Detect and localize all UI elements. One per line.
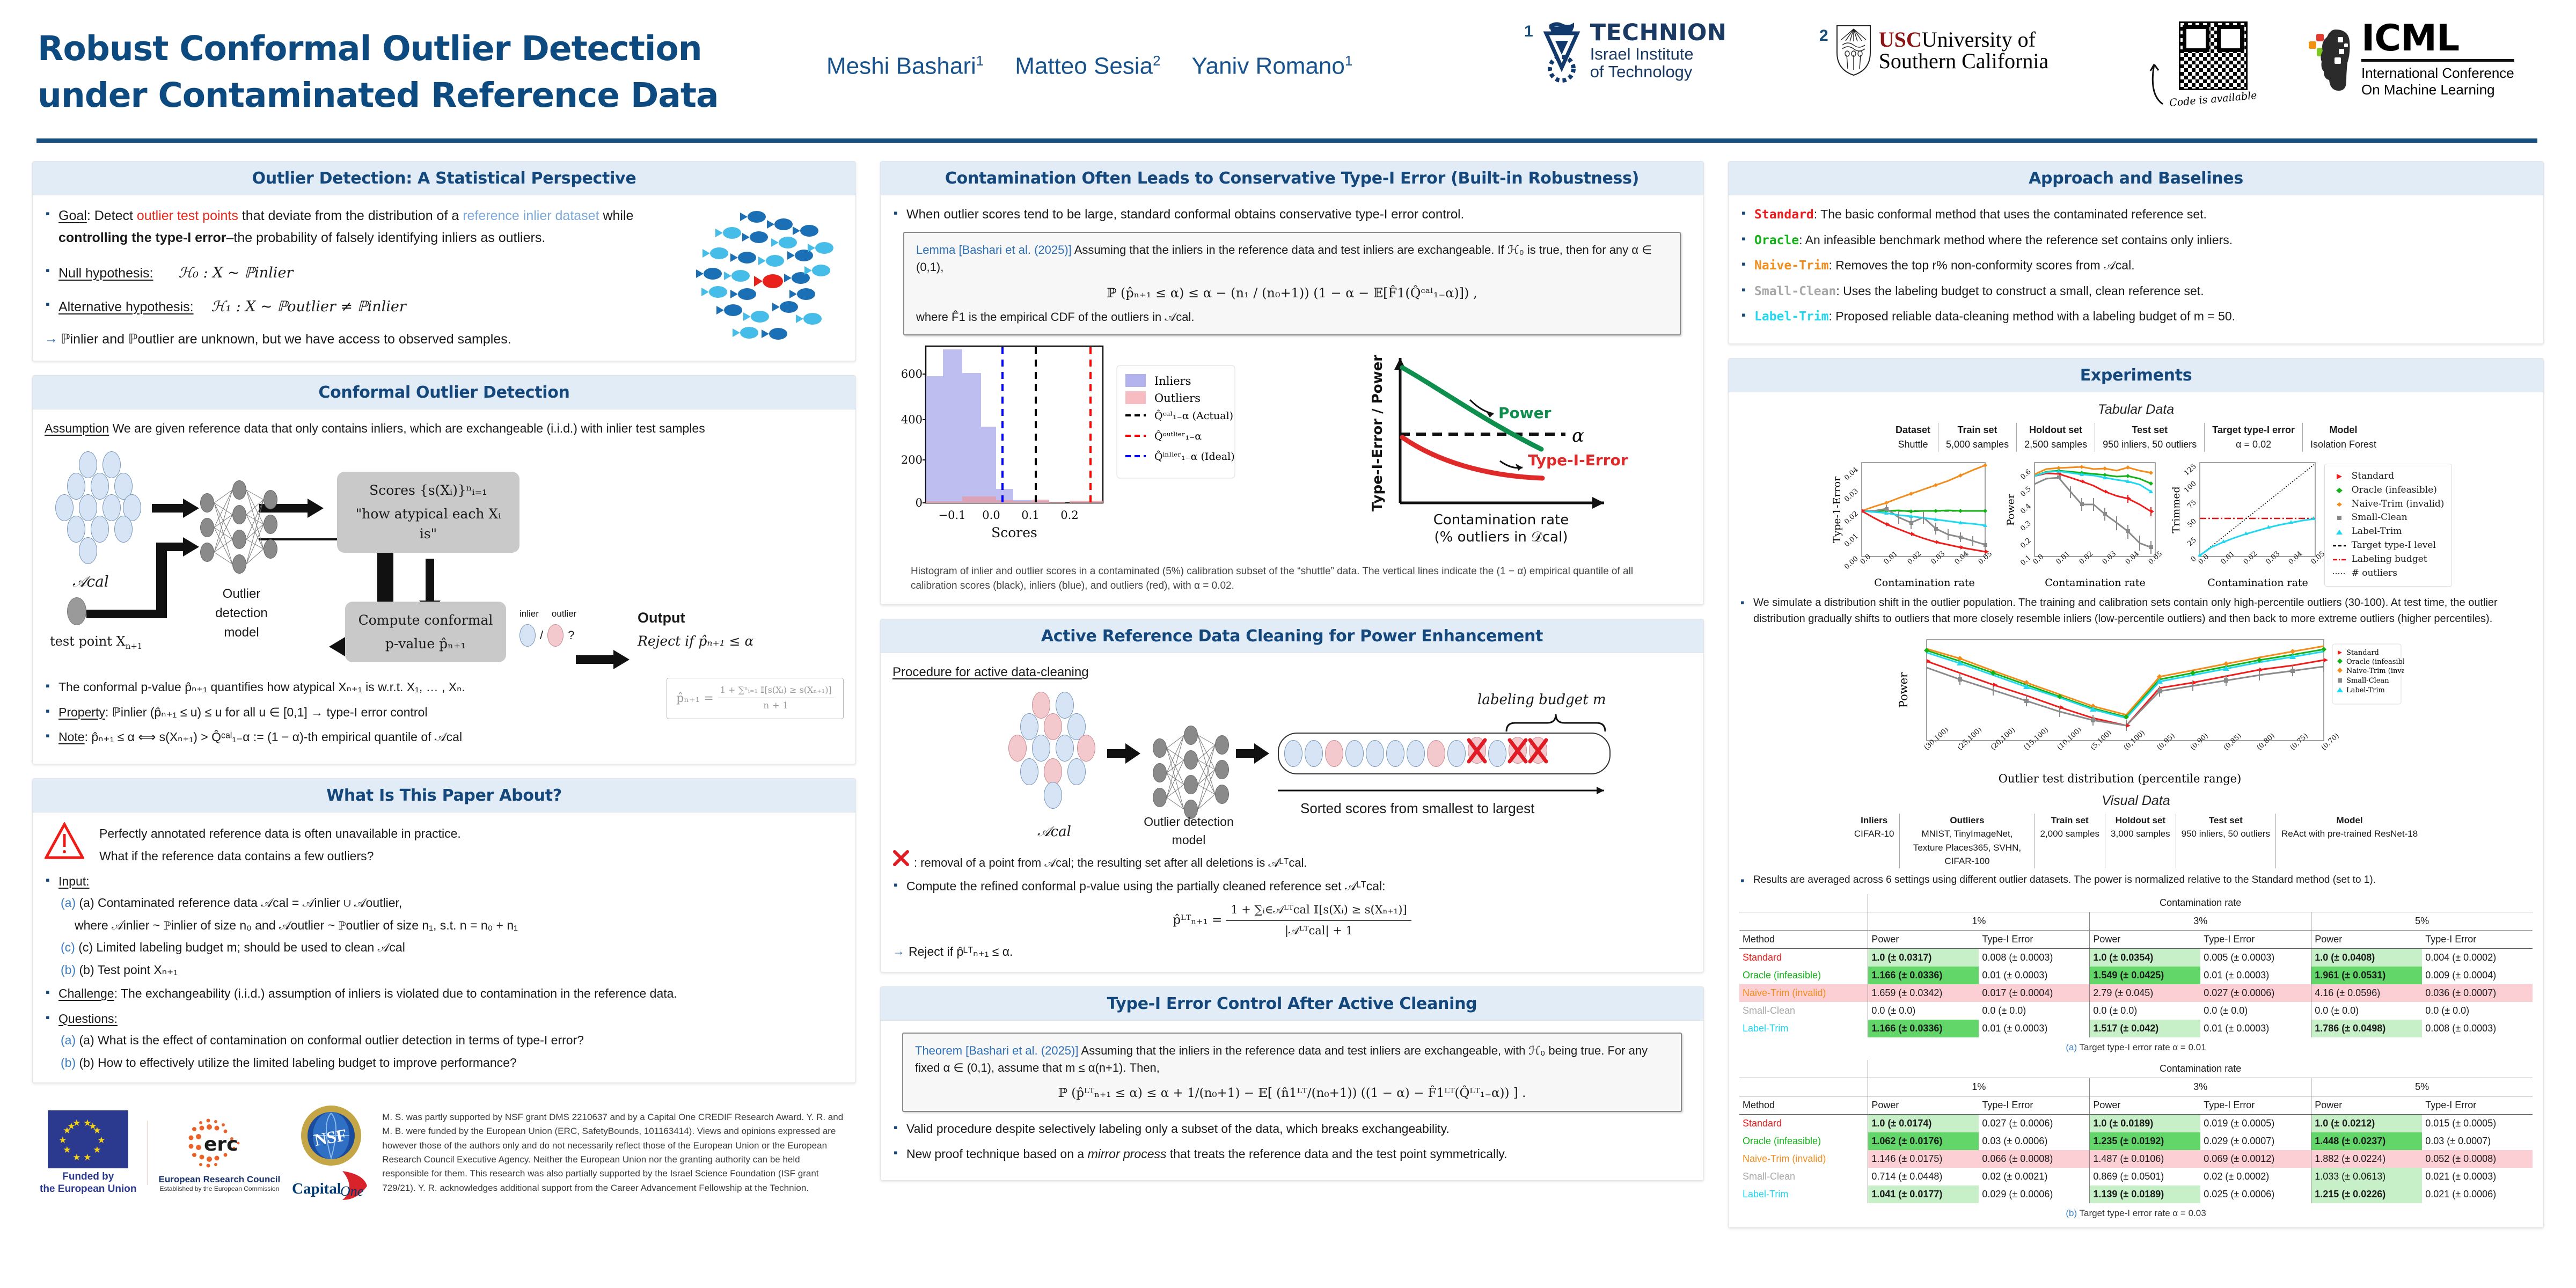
table-b-row-4-c0: 1.041 (± 0.0177) <box>1868 1185 1979 1203</box>
table-row: Oracle (infeasible) 1.166 (± 0.0336) 0.0… <box>1739 967 2533 984</box>
nsf-capitalone-logos: NSF Capital One <box>291 1103 371 1202</box>
baseline-oracle-name: Oracle <box>1754 233 1799 247</box>
table-b-rate-3: 5% <box>2311 1078 2533 1096</box>
table-a-row-0-method: Standard <box>1739 949 1868 967</box>
panel-conformal-title: Conformal Outlier Detection <box>318 383 569 402</box>
legend-question-mark: ? <box>568 626 574 644</box>
usc-shield-icon <box>1835 24 1872 77</box>
assumption-line: Assumption We are given reference data t… <box>45 419 844 438</box>
legend-label-oracle: Oracle (infeasible) <box>2352 484 2437 497</box>
table-a-row-1-c0: 1.166 (± 0.0336) <box>1868 967 1979 984</box>
icml-wordmark: ICML International Conference On Machine… <box>2361 20 2514 98</box>
baseline-standard-name: Standard <box>1754 208 1814 222</box>
legend-label-standard: Standard <box>2352 470 2395 484</box>
cleaning-model-caption: Outlier detection model <box>1140 813 1237 850</box>
baseline-naive-desc: : Removes the top r% non-conformity scor… <box>1828 258 2134 272</box>
page-title-line2: under Contaminated Reference Data <box>38 72 789 119</box>
svg-text:0.04: 0.04 <box>2287 550 2304 566</box>
legend-label-small-clean: Small-Clean <box>2352 511 2407 525</box>
property-label: Property <box>58 705 105 719</box>
table-b-row-4-c4: 1.215 (± 0.0226) <box>2311 1185 2422 1203</box>
pvalue-formula-denominator: n + 1 <box>718 698 834 713</box>
bullet-conservative: When outlier scores tend to be large, st… <box>892 205 1692 224</box>
icml-subtitle-1: International Conference <box>2361 65 2514 82</box>
removed-point-1 <box>1468 737 1486 770</box>
mirror-text-b: that treats the reference data and the t… <box>1167 1147 1507 1161</box>
table-a-row-0-c3: 0.005 (± 0.0003) <box>2200 949 2311 967</box>
svg-text:200: 200 <box>901 453 923 466</box>
table-b-caption: (b) Target type-I error rate α = 0.03 <box>1739 1206 2533 1220</box>
table-a-row-2-c2: 2.79 (± 0.045) <box>2090 984 2200 1002</box>
usc-line-2: Southern California <box>1879 50 2049 72</box>
spec-3-v: 950 inliers, 50 outliers <box>2103 437 2197 452</box>
bullet-null-hypothesis: Null hypothesis: ℋ₀ : X ~ ℙinlier <box>45 262 688 284</box>
technion-subtitle-2: of Technology <box>1590 63 1727 81</box>
bullet-goal: Goal: Detect outlier test points that de… <box>45 205 688 248</box>
author-1: Meshi Bashari1 <box>826 53 984 80</box>
table-a-row-4-c2: 1.517 (± 0.042) <box>2090 1020 2200 1037</box>
icml-subtitle-2: On Machine Learning <box>2361 82 2514 98</box>
table-b-row-1-c0: 1.062 (± 0.0176) <box>1868 1132 1979 1150</box>
bullet-questions: Questions: <box>45 1009 844 1028</box>
table-b-row-1-c5: 0.03 (± 0.0007) <box>2422 1132 2533 1150</box>
svg-text:125: 125 <box>2183 463 2198 478</box>
svg-text:Oracle (infeasible): Oracle (infeasible) <box>2346 658 2404 666</box>
panel-typei-control: Type-I Error Control After Active Cleani… <box>880 986 1704 1181</box>
question-a-text: (a) What is the effect of contamination … <box>79 1033 584 1047</box>
spec-5-v: Isolation Forest <box>2310 437 2376 452</box>
table-b-row-1-method: Oracle (infeasible) <box>1739 1132 1868 1150</box>
conceptual-power-label: Power <box>1498 404 1552 422</box>
challenge-label: Challenge <box>58 986 114 1000</box>
input-item-a2: where 𝒜inlier ~ ℙinlier of size n₀ and 𝒜… <box>61 916 844 935</box>
svg-text:0.02: 0.02 <box>2242 550 2259 566</box>
legend-marker-target-level <box>2332 543 2346 549</box>
compute-pvalue-box: Compute conformal p-value p̂ₙ₊₁ <box>345 602 506 662</box>
scores-box-line2: "how atypical each Xᵢ is" <box>348 504 509 544</box>
theorem-box: Theorem [Bashari et al. (2025)] Assuming… <box>902 1033 1682 1112</box>
header-divider <box>36 138 2537 143</box>
eu-flag-icon: ★★ ★★ ★★ ★★ ★★ ★★ <box>48 1110 128 1168</box>
cleaning-model-network <box>1153 716 1233 813</box>
baseline-item-small-clean: Small-Clean: Uses the labeling budget to… <box>1740 282 2531 301</box>
warning-line-1: Perfectly annotated reference data is of… <box>99 824 461 843</box>
pvalue-formula-numerator: 1 + ∑ⁿᵢ₌₁ 𝕀[s(Xᵢ) ≥ s(Xₙ₊₁)] <box>718 684 834 698</box>
conceptual-xlabel-2: (% outliers in 𝒟cal) <box>1434 529 1568 545</box>
svg-text:0.04: 0.04 <box>1953 550 1970 566</box>
svg-text:(0,85): (0,85) <box>2222 732 2243 752</box>
pvalue-formula-box: p̂ₙ₊₁ = 1 + ∑ⁿᵢ₌₁ 𝕀[s(Xᵢ) ≥ s(Xₙ₊₁)] n +… <box>667 678 844 719</box>
legend-marker-num-outliers <box>2332 570 2346 577</box>
table-b-row-4-c3: 0.025 (± 0.0006) <box>2200 1185 2311 1203</box>
goal-highlight-outlier: outlier test points <box>137 208 238 223</box>
table-b-row-3-c2: 0.869 (± 0.0501) <box>2090 1168 2200 1185</box>
baseline-label-name: Label-Trim <box>1754 310 1828 324</box>
cleaning-model-line2: model <box>1140 831 1237 850</box>
hist-xlabel: Scores <box>991 525 1037 540</box>
goal-highlight-reference: reference inlier dataset <box>463 208 599 223</box>
svg-text:0.00: 0.00 <box>1843 555 1860 572</box>
svg-text:Standard: Standard <box>2346 649 2379 657</box>
spec-1-h: Train set <box>1946 423 2009 437</box>
table-b-row-2-method: Naive-Trim (invalid) <box>1739 1150 1868 1168</box>
table-row: Standard 1.0 (± 0.0317) 0.008 (± 0.0003)… <box>1739 949 2533 967</box>
table-b-method-header: Method <box>1739 1096 1868 1114</box>
table-a-row-3-c4: 0.0 (± 0.0) <box>2311 1002 2422 1020</box>
title-block: Robust Conformal Outlier Detection under… <box>38 26 789 119</box>
visual-spec-table: InliersCIFAR-10 OutliersMNIST, TinyImage… <box>1739 814 2533 868</box>
erc-caption-2: Established by the European Commission <box>159 1185 281 1192</box>
table-b-row-2-c5: 0.052 (± 0.0008) <box>2422 1150 2533 1168</box>
usc-affiliation-number: 2 <box>1819 27 1828 45</box>
baseline-small-desc: : Uses the labeling budget to construct … <box>1836 284 2204 298</box>
table-b-caption-tag: (b) <box>2066 1208 2077 1218</box>
icml-name: ICML <box>2361 20 2514 57</box>
panel-active-cleaning: Active Reference Data Cleaning for Power… <box>880 619 1704 972</box>
table-b-row-3-c3: 0.02 (± 0.0002) <box>2200 1168 2311 1185</box>
panel-contamination-header: Contamination Often Leads to Conservativ… <box>881 162 1703 195</box>
erc-logo: erc European Research Council Establishe… <box>159 1113 281 1192</box>
svg-text:0.02: 0.02 <box>1906 550 1923 566</box>
svg-text:50: 50 <box>2186 517 2198 529</box>
table-a-row-1-method: Oracle (infeasible) <box>1739 967 1868 984</box>
visual-data-label: Visual Data <box>1739 791 2533 811</box>
vspec-2-h: Train set <box>2040 814 2099 828</box>
baseline-item-naive-trim: Naive-Trim: Removes the top r% non-confo… <box>1740 256 2531 275</box>
alt-hypothesis-equation: ℋ₁ : X ~ ℙoutlier ≠ ℙinlier <box>211 298 406 315</box>
score-histogram-chart: 0200400600 −0.10.00.10.2 Scores Inliers <box>892 342 1351 562</box>
legend-marker-oracle <box>2332 487 2346 494</box>
refined-eq-numerator: 1 + ∑ᵢ∈𝒜ᴸᵀcal 𝕀[s(Xᵢ) ≥ s(Xₙ₊₁)] <box>1226 902 1411 921</box>
svg-text:400: 400 <box>901 413 923 426</box>
spec-4-v: α = 0.02 <box>2212 437 2295 452</box>
inlier-outlier-legend: inlier outlier / ? <box>519 607 576 647</box>
input-item-b: (b) (b) Test point Xₙ₊₁ <box>61 961 844 979</box>
svg-text:0.6: 0.6 <box>2019 468 2032 481</box>
table-row: Small-Clean 0.714 (± 0.0448) 0.02 (± 0.0… <box>1739 1168 2533 1185</box>
svg-text:0.05: 0.05 <box>2147 550 2163 566</box>
input-item-c-text: (c) Limited labeling budget m; should be… <box>78 940 405 954</box>
panel-outlier-detection-header: Outlier Detection: A Statistical Perspec… <box>33 162 855 195</box>
spec-0-h: Dataset <box>1896 423 1930 437</box>
bullet-valid-procedure: Valid procedure despite selectively labe… <box>892 1119 1692 1138</box>
bullet-property: Property: ℙinlier (p̂ₙ₊₁ ≤ u) ≤ u for al… <box>45 703 657 722</box>
svg-text:0.04: 0.04 <box>1843 466 1860 482</box>
table-a-caption: (a) Target type-I error rate α = 0.01 <box>1739 1041 2533 1055</box>
conceptual-typei-label: Type-I-Error <box>1528 451 1628 469</box>
sorted-scores-axis <box>1278 784 1616 798</box>
bullet-input: Input: <box>45 872 844 891</box>
vspec-4-h: Test set <box>2182 814 2270 828</box>
scores-box: Scores {s(Xᵢ)}ⁿᵢ₌₁ "how atypical each Xᵢ… <box>337 472 519 553</box>
spec-3-h: Test set <box>2103 423 2197 437</box>
erc-dots-icon: erc <box>185 1113 254 1173</box>
bullet-note: Note: p̂ₙ₊₁ ≤ α ⟺ s(Xₙ₊₁) > Q̂ᶜᵃˡ₁₋α := … <box>45 728 657 747</box>
author-2-affiliation: 2 <box>1153 53 1160 69</box>
legend-marker-label-trim <box>2332 529 2346 535</box>
usc-logo: 2 USCUniversity of Souther <box>1819 24 2048 77</box>
panel-outlier-detection-title: Outlier Detection: A Statistical Perspec… <box>252 169 636 188</box>
eu-caption-1: Funded by <box>40 1171 137 1183</box>
t1-xlabel: Contamination rate <box>1874 577 1975 589</box>
table-a-row-4-c1: 0.01 (± 0.0003) <box>1979 1020 2089 1037</box>
svg-text:0.03: 0.03 <box>1843 487 1860 504</box>
table-a-row-2-method: Naive-Trim (invalid) <box>1739 984 1868 1002</box>
capitalone-text-2: One <box>340 1183 363 1199</box>
table-a-super-header: Contamination rate <box>1868 894 2533 912</box>
conceptual-alpha-label: α <box>1572 425 1584 447</box>
table-a-row-2-c3: 0.027 (± 0.0006) <box>2200 984 2311 1002</box>
svg-text:0.03: 0.03 <box>2264 550 2281 566</box>
vspec-5-v: ReAct with pre-trained ResNet-18 <box>2281 827 2418 841</box>
svg-text:(0,80): (0,80) <box>2256 732 2277 752</box>
table-b-row-0-c3: 0.019 (± 0.0005) <box>2200 1114 2311 1132</box>
panel-conformal-header: Conformal Outlier Detection <box>33 376 855 409</box>
bullet-refined-pvalue: Compute the refined conformal p-value us… <box>892 877 1692 896</box>
technion-wordmark: TECHNION Israel Institute of Technology <box>1590 21 1727 80</box>
legend-label-budget: Labeling budget <box>2352 553 2427 567</box>
panel-cleaning-header: Active Reference Data Cleaning for Power… <box>881 619 1703 653</box>
bullet-distribution-shift: We simulate a distribution shift in the … <box>1739 595 2533 627</box>
table-a-row-3-c1: 0.0 (± 0.0) <box>1979 1002 2089 1020</box>
table-a-row-4-method: Label-Trim <box>1739 1020 1868 1037</box>
baseline-item-standard: Standard: The basic conformal method tha… <box>1740 205 2531 224</box>
baseline-label-desc: : Proposed reliable data-cleaning method… <box>1828 309 2235 323</box>
spec-2-v: 2,500 samples <box>2024 437 2087 452</box>
table-a-row-4-c5: 0.008 (± 0.0003) <box>2422 1020 2533 1037</box>
svg-text:0.0: 0.0 <box>2031 553 2045 566</box>
right-column: Approach and Baselines Standard: The bas… <box>1728 161 2544 1242</box>
baseline-item-label-trim: Label-Trim: Proposed reliable data-clean… <box>1740 307 2531 326</box>
challenge-text: : The exchangeability (i.i.d.) assumptio… <box>114 986 677 1000</box>
table-a-row-0-c1: 0.008 (± 0.0003) <box>1979 949 2089 967</box>
red-x-icon <box>892 850 910 867</box>
alt-hypothesis-label: Alternative hypothesis: <box>58 299 194 314</box>
theorem-equation: ℙ (p̂ᴸᵀₙ₊₁ ≤ α) ≤ α + 1/(n₀+1) − 𝔼[ (n̂1… <box>915 1084 1669 1103</box>
sorted-scores-strip <box>1278 733 1611 774</box>
baseline-naive-name: Naive-Trim <box>1754 259 1828 273</box>
svg-text:Label-Trim: Label-Trim <box>2346 686 2385 694</box>
icml-logo: ICML International Conference On Machine… <box>2308 20 2514 98</box>
table-b-row-2-c0: 1.146 (± 0.0175) <box>1868 1150 1979 1168</box>
table-a-row-3-c5: 0.0 (± 0.0) <box>2422 1002 2533 1020</box>
eu-caption-2: the European Union <box>40 1183 137 1196</box>
table-b-row-1-c2: 1.235 (± 0.0192) <box>2090 1132 2200 1150</box>
cleaning-model-line1: Outlier detection <box>1140 813 1237 831</box>
removed-point-3 <box>1529 737 1547 770</box>
conceptual-xlabel-1: Contamination rate <box>1433 512 1569 528</box>
legend-outlier-label: outlier <box>552 607 576 621</box>
hist-legend-cal: Q̂ᶜᵃˡ₁₋α (Actual) <box>1154 409 1233 421</box>
baseline-standard-desc: : The basic conformal method that uses t… <box>1814 207 2207 221</box>
spec-2-h: Holdout set <box>2024 423 2087 437</box>
svg-text:(0,95): (0,95) <box>2156 732 2177 752</box>
svg-text:(10,100): (10,100) <box>2056 726 2083 752</box>
question-b: (b) (b) How to effectively utilize the l… <box>61 1053 844 1072</box>
author-3-name: Yaniv Romano <box>1192 53 1345 79</box>
svg-text:0.01: 0.01 <box>1843 532 1860 549</box>
question-a: (a) (a) What is the effect of contaminat… <box>61 1031 844 1050</box>
table-b-row-3-c5: 0.021 (± 0.0003) <box>2422 1168 2533 1185</box>
table-b-row-0-c1: 0.027 (± 0.0006) <box>1979 1114 2089 1132</box>
table-b-col-power-3: Power <box>2311 1096 2422 1114</box>
table-b-row-4-c5: 0.021 (± 0.0006) <box>2422 1185 2533 1203</box>
svg-text:0.1: 0.1 <box>1021 509 1039 522</box>
table-b-col-type1-1: Type-I Error <box>1979 1096 2089 1114</box>
legend-outlier-swatch <box>547 624 563 647</box>
conceptual-ylabel: Type-I-Error / Power <box>1370 355 1386 511</box>
author-2: Matteo Sesia2 <box>1015 53 1160 80</box>
baseline-small-name: Small-Clean <box>1754 284 1836 298</box>
lemma-box: Lemma [Bashari et al. (2025)] Assuming t… <box>903 232 1681 335</box>
panel-cleaning-title: Active Reference Data Cleaning for Power… <box>1041 627 1543 646</box>
hist-legend-outliers: Outliers <box>1154 392 1201 405</box>
vspec-5-h: Model <box>2281 814 2418 828</box>
visual-ylabel: Power <box>1897 672 1910 708</box>
cleaning-arrow-2 <box>1236 743 1274 764</box>
svg-text:0: 0 <box>916 496 923 509</box>
usc-wordmark: USCUniversity of Southern California <box>1879 29 2049 72</box>
scores-box-line1: Scores {s(Xᵢ)}ⁿᵢ₌₁ <box>348 480 509 501</box>
model-caption: Outlier detection model <box>196 584 287 642</box>
results-table-alpha-001: Contamination rate 1% 3% 5% Method Power… <box>1739 894 2533 1037</box>
table-a-row-0-c4: 1.0 (± 0.0408) <box>2311 949 2422 967</box>
t1-ylabel: Type-1-Error <box>1831 476 1843 543</box>
spec-1-v: 5,000 samples <box>1946 437 2009 452</box>
svg-text:−0.1: −0.1 <box>939 509 966 522</box>
table-a-row-2-c0: 1.659 (± 0.0342) <box>1868 984 1979 1002</box>
table-b-row-3-c4: 1.033 (± 0.0613) <box>2311 1168 2422 1185</box>
technion-affiliation-number: 1 <box>1524 23 1533 41</box>
table-b-row-0-c2: 1.0 (± 0.0189) <box>2090 1114 2200 1132</box>
compute-box-line2: p-value p̂ₙ₊₁ <box>356 634 495 654</box>
refined-eq-lhs: p̂ᴸᵀₙ₊₁ = <box>1173 913 1222 927</box>
panel-approach-title: Approach and Baselines <box>2029 169 2243 188</box>
svg-text:0.03: 0.03 <box>1929 550 1946 566</box>
null-hypothesis-equation: ℋ₀ : X ~ ℙinlier <box>178 265 293 281</box>
procedure-label: Procedure for active data-cleaning <box>892 663 1692 682</box>
vspec-0-v: CIFAR-10 <box>1854 827 1894 841</box>
table-b-super-header: Contamination rate <box>1868 1060 2533 1078</box>
svg-text:(0,75): (0,75) <box>2289 732 2310 752</box>
usc-line-1: USCUniversity of <box>1879 29 2049 50</box>
output-label: Output <box>638 607 753 629</box>
svg-text:0.2: 0.2 <box>1060 509 1078 522</box>
svg-text:0.04: 0.04 <box>2124 550 2141 566</box>
panel-experiments-header: Experiments <box>1729 358 2543 392</box>
table-a-caption-text: Target type-I error rate α = 0.01 <box>2080 1042 2206 1052</box>
table-b-row-0-c4: 1.0 (± 0.0212) <box>2311 1114 2422 1132</box>
mirror-text-a: New proof technique based on a <box>906 1147 1088 1161</box>
poster-header: Robust Conformal Outlier Detection under… <box>0 0 2576 149</box>
tabular-charts-row: Type-1-Error 0.00 0.01 0.02 0.03 0.04 0.… <box>1739 457 2533 591</box>
qr-code-icon[interactable] <box>2179 21 2248 90</box>
qr-code-block[interactable]: Code is available <box>2147 21 2257 105</box>
svg-text:0.2: 0.2 <box>2019 537 2032 550</box>
table-a-row-1-c2: 1.549 (± 0.0425) <box>2090 967 2200 984</box>
table-b-row-4-method: Label-Trim <box>1739 1185 1868 1203</box>
legend-inlier-swatch <box>519 624 536 647</box>
table-b-row-0-c0: 1.0 (± 0.0174) <box>1868 1114 1979 1132</box>
panel-what-is-this-paper-about: What Is This Paper About? Perfectly anno… <box>32 778 856 1084</box>
spec-4-h: Target type-I error <box>2212 423 2295 437</box>
table-a-row-3-method: Small-Clean <box>1739 1002 1868 1020</box>
labeling-budget-brace <box>1504 712 1612 734</box>
svg-text:100: 100 <box>2183 480 2198 495</box>
table-a-row-3-c0: 0.0 (± 0.0) <box>1868 1002 1979 1020</box>
table-b-row-2-c2: 1.487 (± 0.0106) <box>2090 1150 2200 1168</box>
model-caption-line2: model <box>196 623 287 642</box>
visual-power-shift-chart: Power <box>1868 633 2404 789</box>
author-3-affiliation: 1 <box>1345 53 1352 69</box>
table-b-col-power-2: Power <box>2090 1096 2200 1114</box>
svg-text:0.01: 0.01 <box>2054 550 2072 566</box>
table-b-row-4-c2: 1.139 (± 0.0189) <box>2090 1185 2200 1203</box>
table-a-rate-3: 5% <box>2311 912 2533 931</box>
note-distributions-unknown: ℙinlier and ℙoutlier are unknown, but we… <box>45 330 688 350</box>
table-b-row-3-method: Small-Clean <box>1739 1168 1868 1185</box>
bullet-alt-hypothesis: Alternative hypothesis: ℋ₁ : X ~ ℙoutlie… <box>45 296 688 318</box>
x-note-text: : removal of a point from 𝒜cal; the resu… <box>914 854 1307 872</box>
legend-label-label-trim: Label-Trim <box>2352 525 2402 539</box>
technion-logo: 1 TECHNION Israel Institute of Technolog… <box>1524 19 1726 83</box>
note-text: : p̂ₙ₊₁ ≤ α ⟺ s(Xₙ₊₁) > Q̂ᶜᵃˡ₁₋α := (1 −… <box>85 730 462 744</box>
ack-divider <box>148 1121 148 1185</box>
contaminated-data-cloud <box>1016 692 1107 815</box>
table-a-row-1-c4: 1.961 (± 0.0531) <box>2311 967 2422 984</box>
svg-text:(15,100): (15,100) <box>2023 726 2050 752</box>
curved-arrow-icon <box>2147 57 2165 105</box>
hist-legend-inliers: Inliers <box>1154 375 1191 387</box>
visual-shift-chart-row: Power <box>1739 633 2533 789</box>
visual-xlabel: Outlier test distribution (percentile ra… <box>1999 772 2242 785</box>
svg-text:(0,70): (0,70) <box>2320 732 2341 752</box>
removed-point-2 <box>1509 737 1527 770</box>
trimmed-ylabel: Trimmed <box>2170 486 2182 533</box>
technion-emblem-icon <box>1539 19 1585 83</box>
power-xlabel: Contamination rate <box>2045 577 2146 589</box>
table-a-caption-tag: (a) <box>2066 1042 2077 1052</box>
goal-label: Goal <box>58 208 87 223</box>
left-column: Outlier Detection: A Statistical Perspec… <box>32 161 856 1209</box>
svg-text:0.4: 0.4 <box>2019 502 2032 516</box>
svg-text:75: 75 <box>2186 499 2198 510</box>
tabular-power-chart: Power 0.1 0.2 0.3 0.4 0.5 0.6 0.0 0.01 0… <box>1997 457 2163 591</box>
table-row: Label-Trim 1.166 (± 0.0336) 0.01 (± 0.00… <box>1739 1020 2533 1037</box>
bullet-challenge: Challenge: The exchangeability (i.i.d.) … <box>45 984 844 1003</box>
table-row: Standard 1.0 (± 0.0174) 0.027 (± 0.0006)… <box>1739 1114 2533 1132</box>
panel-outlier-detection: Outlier Detection: A Statistical Perspec… <box>32 161 856 361</box>
reject-rule-cleaning: Reject if p̂ᴸᵀₙ₊₁ ≤ α. <box>892 942 1692 961</box>
cleaning-dcal-label: 𝒜cal <box>1037 822 1071 843</box>
svg-text:0: 0 <box>2189 555 2198 564</box>
table-a-row-2-c4: 4.16 (± 0.0596) <box>2311 984 2422 1002</box>
legend-separator: / <box>540 626 543 644</box>
table-a-row-1-c5: 0.009 (± 0.0004) <box>2422 967 2533 984</box>
table-a-row-4-c4: 1.786 (± 0.0498) <box>2311 1020 2422 1037</box>
table-row: Small-Clean 0.0 (± 0.0) 0.0 (± 0.0) 0.0 … <box>1739 1002 2533 1020</box>
mirror-process-emphasis: mirror process <box>1088 1147 1167 1161</box>
panel-approach-header: Approach and Baselines <box>1729 162 2543 195</box>
input-item-b-text: (b) Test point Xₙ₊₁ <box>79 963 178 977</box>
table-b-row-1-c1: 0.03 (± 0.0006) <box>1979 1132 2089 1150</box>
hist-legend-outlier-q: Q̂ᵒᵘᵗˡⁱᵉʳ₁₋α <box>1154 430 1202 442</box>
legend-label-target-level: Target type-I level <box>2352 539 2436 553</box>
svg-text:600: 600 <box>901 368 923 380</box>
panel-approach-baselines: Approach and Baselines Standard: The bas… <box>1728 161 2544 344</box>
table-b-row-2-c4: 1.882 (± 0.0224) <box>2311 1150 2422 1168</box>
table-row: Naive-Trim (invalid) 1.146 (± 0.0175) 0.… <box>1739 1150 2533 1168</box>
